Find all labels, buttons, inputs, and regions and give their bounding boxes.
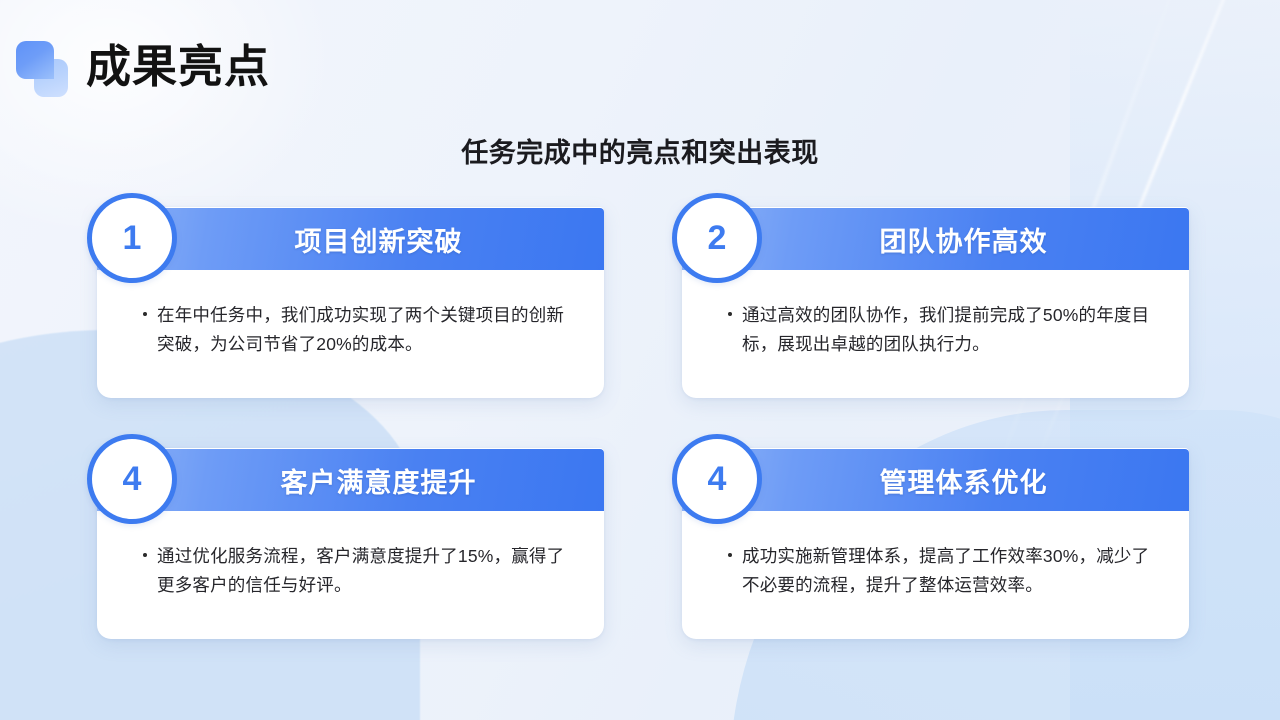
card-title: 项目创新突破 — [239, 220, 463, 259]
card-body-text: 成功实施新管理体系，提高了工作效率30%，减少了不必要的流程，提升了整体运营效率… — [742, 542, 1155, 599]
bullet-item: 通过高效的团队协作，我们提前完成了50%的年度目标，展现出卓越的团队执行力。 — [728, 301, 1155, 358]
highlight-card[interactable]: 团队协作高效 2 通过高效的团队协作，我们提前完成了50%的年度目标，展现出卓越… — [682, 207, 1189, 398]
card-title: 客户满意度提升 — [225, 461, 477, 500]
card-number: 2 — [708, 221, 727, 255]
bullet-item: 通过优化服务流程，客户满意度提升了15%，赢得了更多客户的信任与好评。 — [143, 542, 570, 599]
card-body: 通过优化服务流程，客户满意度提升了15%，赢得了更多客户的信任与好评。 — [97, 510, 604, 639]
card-number-badge: 2 — [672, 193, 762, 283]
card-number: 4 — [123, 462, 142, 496]
card-number-badge: 1 — [87, 193, 177, 283]
overlapping-leaf-squares-logo-icon — [8, 35, 70, 97]
card-title: 管理体系优化 — [824, 461, 1048, 500]
bullet-dot-icon — [143, 312, 147, 316]
card-number-badge: 4 — [672, 434, 762, 524]
highlight-card[interactable]: 项目创新突破 1 在年中任务中，我们成功实现了两个关键项目的创新突破，为公司节省… — [97, 207, 604, 398]
card-number: 1 — [123, 221, 142, 255]
card-body-text: 在年中任务中，我们成功实现了两个关键项目的创新突破，为公司节省了20%的成本。 — [157, 301, 570, 358]
logo-front-shape — [16, 41, 54, 79]
slide-header: 成果亮点 — [0, 26, 270, 106]
bullet-item: 在年中任务中，我们成功实现了两个关键项目的创新突破，为公司节省了20%的成本。 — [143, 301, 570, 358]
card-body: 通过高效的团队协作，我们提前完成了50%的年度目标，展现出卓越的团队执行力。 — [682, 269, 1189, 398]
page-title: 成果亮点 — [86, 44, 270, 89]
card-number: 4 — [708, 462, 727, 496]
card-body: 在年中任务中，我们成功实现了两个关键项目的创新突破，为公司节省了20%的成本。 — [97, 269, 604, 398]
bullet-dot-icon — [728, 553, 732, 557]
card-body-text: 通过高效的团队协作，我们提前完成了50%的年度目标，展现出卓越的团队执行力。 — [742, 301, 1155, 358]
bullet-dot-icon — [143, 553, 147, 557]
card-number-badge: 4 — [87, 434, 177, 524]
card-body-text: 通过优化服务流程，客户满意度提升了15%，赢得了更多客户的信任与好评。 — [157, 542, 570, 599]
card-title: 团队协作高效 — [824, 220, 1048, 259]
slide-canvas: 成果亮点 任务完成中的亮点和突出表现 项目创新突破 1 在年中任务中，我们成功实… — [0, 0, 1280, 720]
slide-subtitle: 任务完成中的亮点和突出表现 — [0, 131, 1280, 170]
bullet-dot-icon — [728, 312, 732, 316]
highlight-card[interactable]: 客户满意度提升 4 通过优化服务流程，客户满意度提升了15%，赢得了更多客户的信… — [97, 448, 604, 639]
card-body: 成功实施新管理体系，提高了工作效率30%，减少了不必要的流程，提升了整体运营效率… — [682, 510, 1189, 639]
highlight-card[interactable]: 管理体系优化 4 成功实施新管理体系，提高了工作效率30%，减少了不必要的流程，… — [682, 448, 1189, 639]
bullet-item: 成功实施新管理体系，提高了工作效率30%，减少了不必要的流程，提升了整体运营效率… — [728, 542, 1155, 599]
highlight-card-grid: 项目创新突破 1 在年中任务中，我们成功实现了两个关键项目的创新突破，为公司节省… — [97, 207, 1187, 639]
